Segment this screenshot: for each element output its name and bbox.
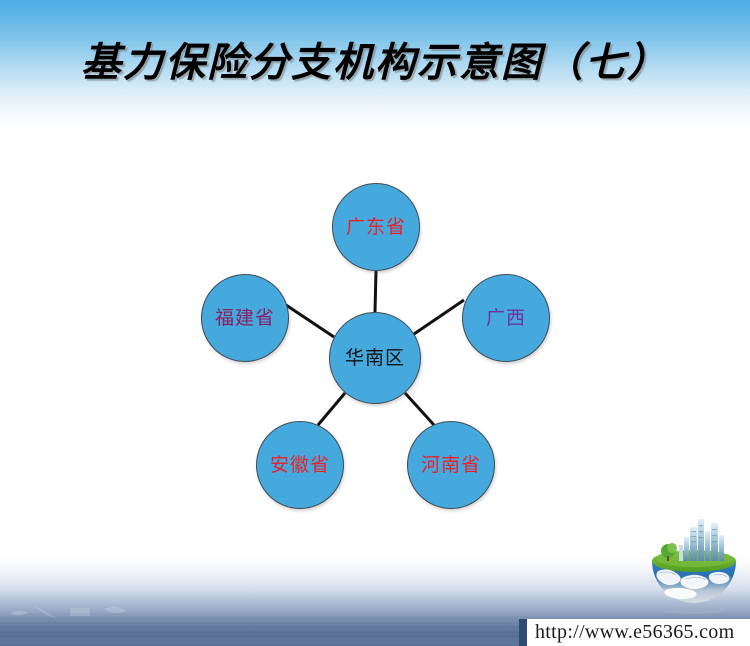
edge-center-fujian [286, 305, 334, 337]
node-guangdong-label: 广东省 [346, 218, 406, 237]
edge-center-anhui [318, 393, 345, 425]
node-anhui[interactable]: 安徽省 [256, 421, 344, 509]
node-fujian-label: 福建省 [215, 309, 275, 328]
globe-shadow [662, 606, 726, 614]
city-skyline [679, 519, 724, 561]
node-guangdong[interactable]: 广东省 [332, 183, 420, 271]
node-anhui-label: 安徽省 [270, 456, 330, 475]
node-guangxi-label: 广西 [486, 309, 526, 328]
node-center-huanan[interactable]: 华南区 [329, 312, 421, 404]
earth-city-globe-icon [646, 515, 742, 615]
edge-center-henan [405, 393, 434, 425]
node-henan[interactable]: 河南省 [407, 421, 495, 509]
branch-structure-diagram: 华南区 广东省 广西 河南省 安徽省 福建省 [0, 0, 750, 646]
edge-center-guangdong [375, 271, 376, 312]
slide-canvas: 基力保险分支机构示意图（七） 华南区 广东省 广西 河南省 安徽省 [0, 0, 750, 646]
node-center-label: 华南区 [345, 349, 405, 368]
watermark-box: http://www.e56365.com [527, 619, 750, 646]
node-fujian[interactable]: 福建省 [201, 274, 289, 362]
watermark-url: http://www.e56365.com [535, 621, 734, 644]
node-henan-label: 河南省 [421, 456, 481, 475]
edge-center-guangxi [414, 300, 464, 334]
node-guangxi[interactable]: 广西 [462, 274, 550, 362]
